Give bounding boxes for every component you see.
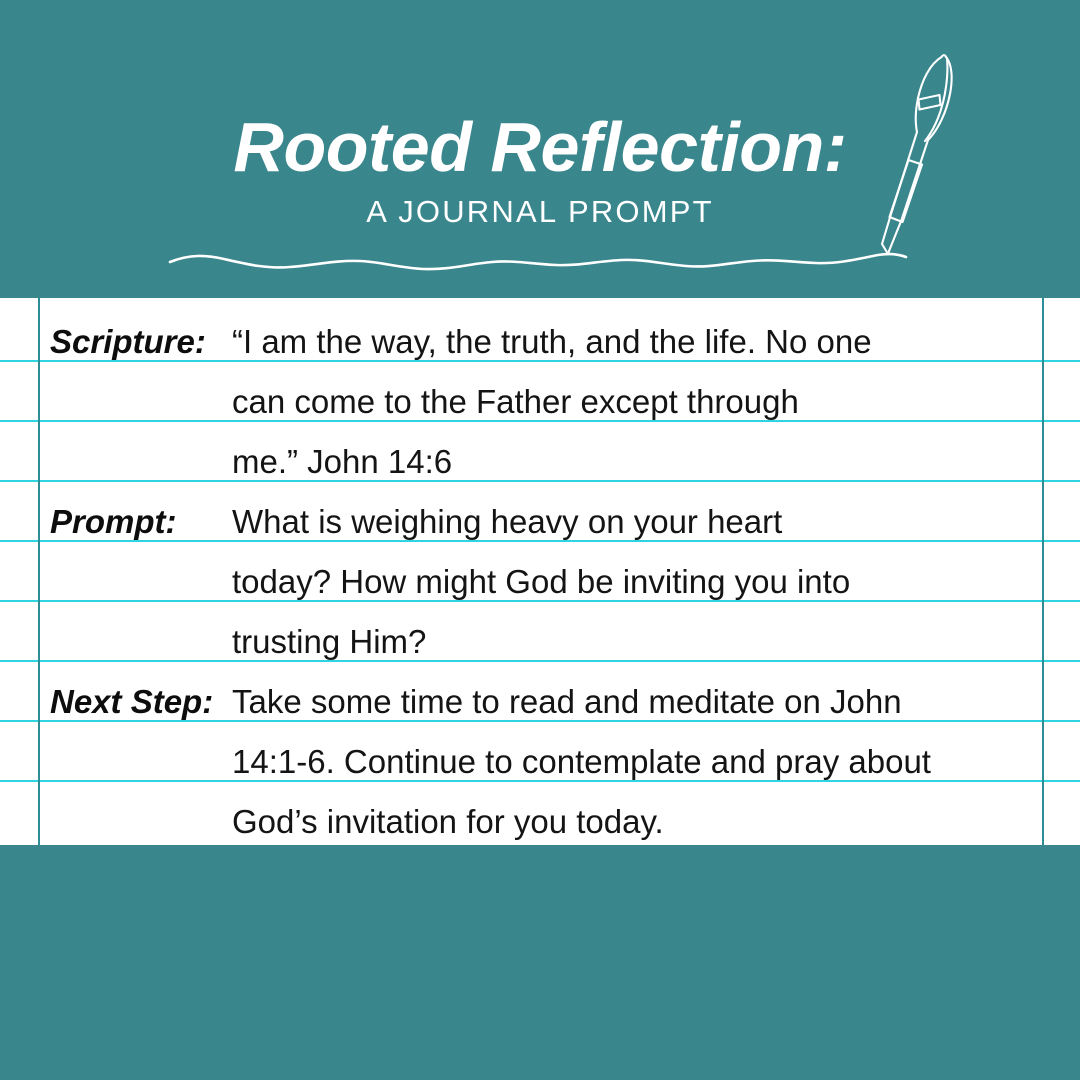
- entry-list: Scripture: “I am the way, the truth, and…: [0, 298, 1080, 845]
- entry-label: Next Step:: [50, 672, 232, 732]
- entry-line: “I am the way, the truth, and the life. …: [232, 312, 1040, 372]
- footer-banner: rootedhopecounseling.org: [0, 845, 1080, 1080]
- entry-line: 14:1-6. Continue to contemplate and pray…: [232, 732, 1040, 792]
- notebook-paper: Scripture: “I am the way, the truth, and…: [0, 298, 1080, 845]
- entry-body: What is weighing heavy on your heart tod…: [232, 492, 1040, 672]
- entry-line: today? How might God be inviting you int…: [232, 552, 1040, 612]
- entry-body: “I am the way, the truth, and the life. …: [232, 312, 1040, 492]
- entry-label: Prompt:: [50, 492, 232, 552]
- pen-icon: [868, 48, 978, 264]
- journal-prompt-graphic: Rooted Reflection: A JOURNAL PROMPT: [0, 0, 1080, 1080]
- entry-line: can come to the Father except through: [232, 372, 1040, 432]
- header-banner: Rooted Reflection: A JOURNAL PROMPT: [0, 0, 1080, 298]
- entry-line: trusting Him?: [232, 612, 1040, 672]
- entry-line: God’s invitation for you today.: [232, 792, 1040, 845]
- entry-line: What is weighing heavy on your heart: [232, 492, 1040, 552]
- wavy-underline-icon: [168, 236, 908, 272]
- entry-line: Take some time to read and meditate on J…: [232, 672, 1040, 732]
- entry-body: Take some time to read and meditate on J…: [232, 672, 1040, 845]
- entry-line: me.” John 14:6: [232, 432, 1040, 492]
- entry-label: Scripture:: [50, 312, 232, 372]
